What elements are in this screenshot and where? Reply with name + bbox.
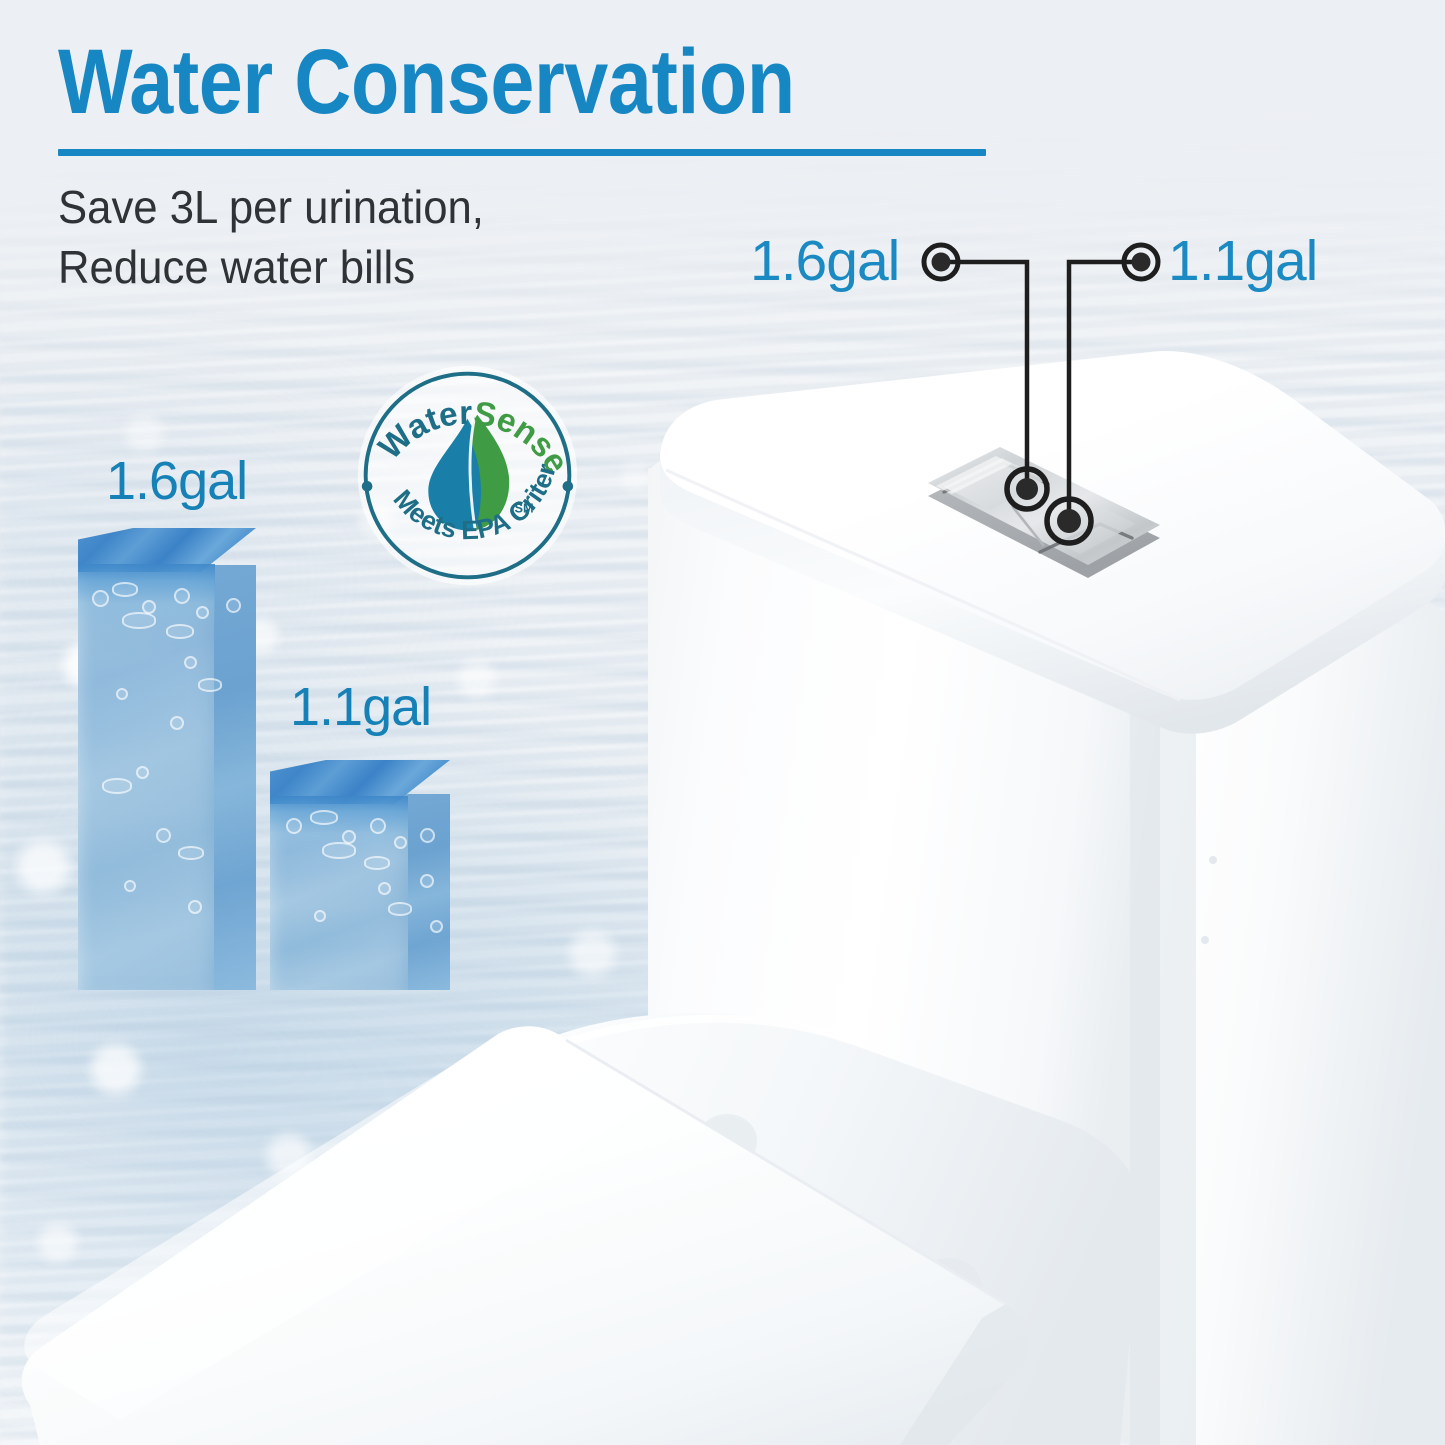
- leader-line-full-flush: [943, 262, 1027, 488]
- infographic-canvas: Water Conservation Save 3L per urination…: [0, 0, 1445, 1445]
- callout-group: 1.6gal 1.1gal: [0, 0, 1445, 1445]
- callout-label-half-flush: 1.1gal: [1168, 228, 1317, 294]
- callout-label-full-flush: 1.6gal: [750, 228, 899, 294]
- leader-line-half-flush: [1069, 262, 1140, 521]
